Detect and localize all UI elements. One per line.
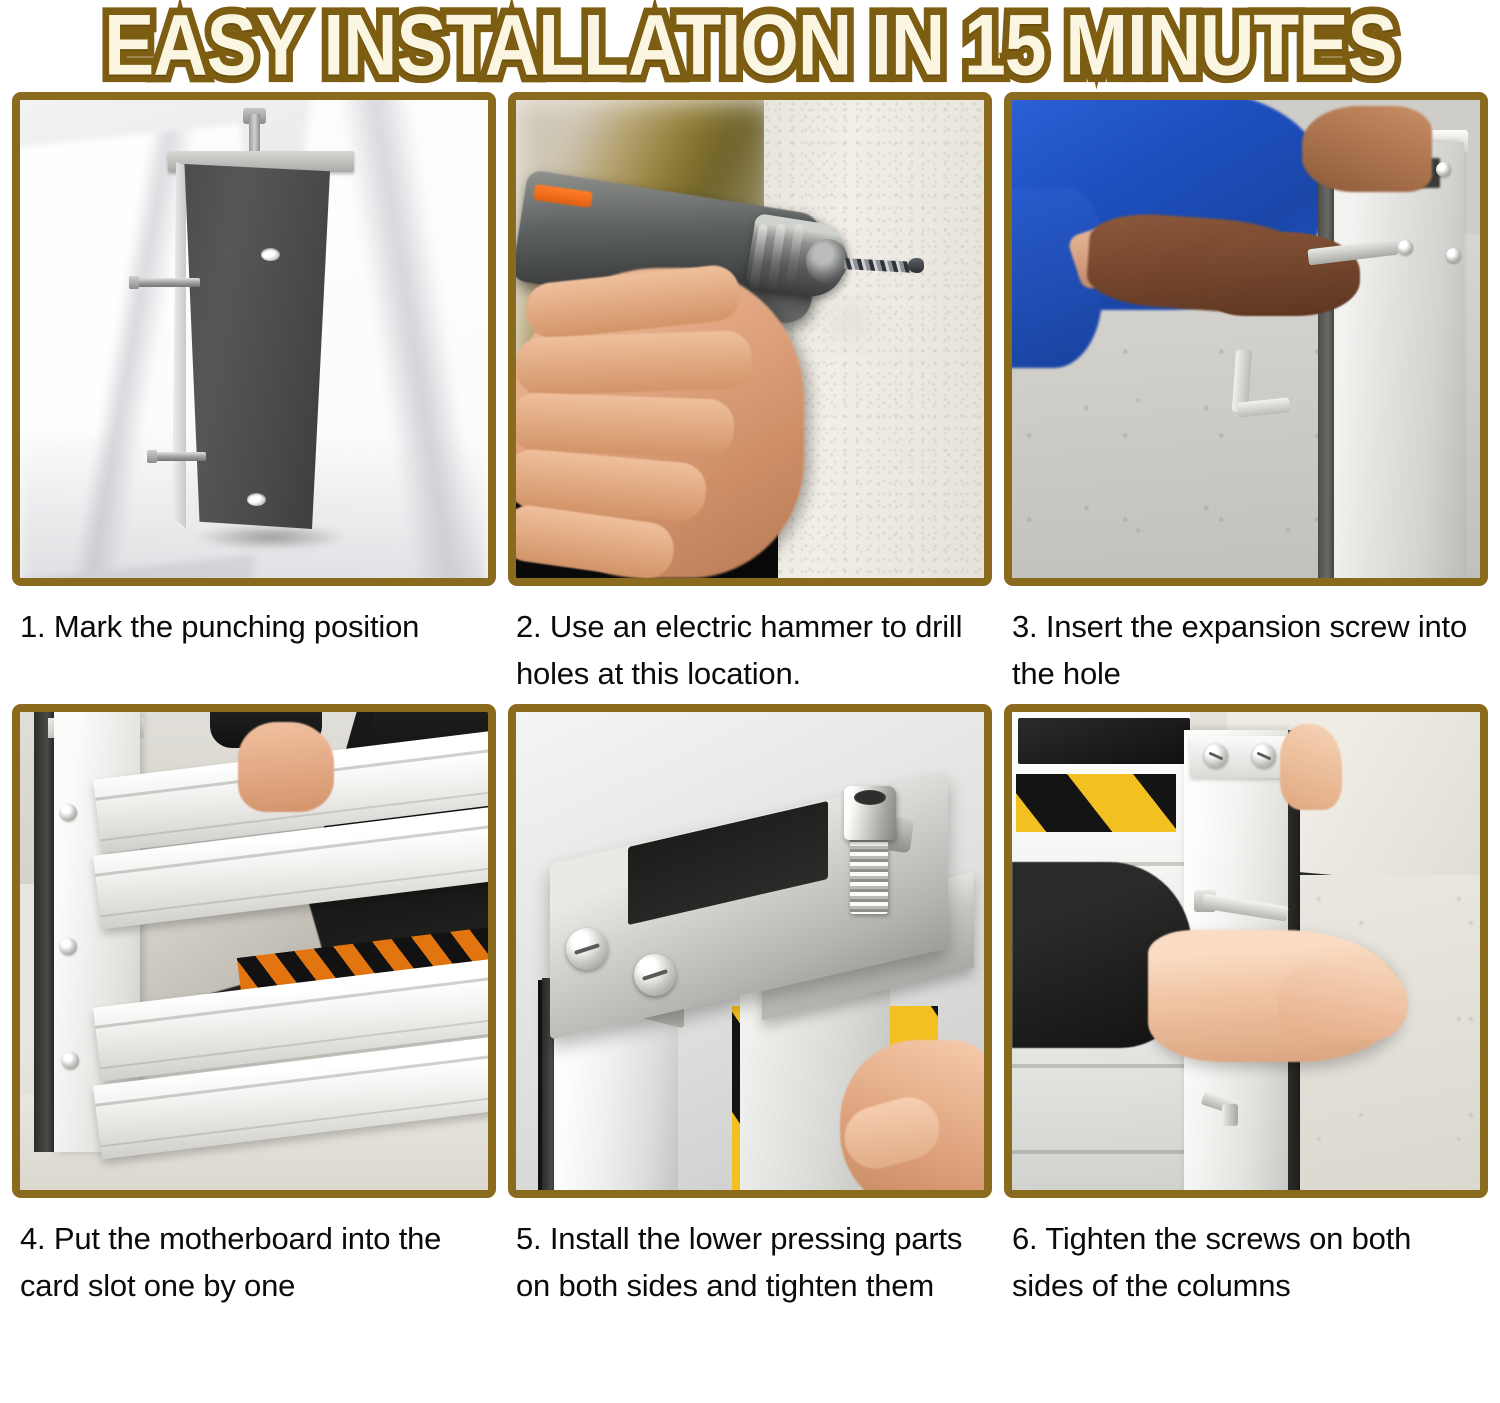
hand (1280, 724, 1342, 810)
hex-bolt-socket (854, 790, 886, 805)
step-card-5: 5. Install the lower pressing parts on b… (508, 704, 992, 1338)
drill-bit-tip (908, 258, 924, 273)
hand (238, 722, 334, 812)
hex-bolt-shaft (850, 832, 888, 914)
column-screw (1204, 744, 1228, 768)
finger (516, 330, 753, 396)
hand (1208, 232, 1360, 316)
step-photo-2 (516, 100, 984, 578)
column-screw (1398, 240, 1413, 255)
page-title: EASY INSTALLATION IN 15 MINUTES (104, 2, 1396, 89)
barrier-post (180, 164, 330, 529)
expansion-stud-cap (147, 450, 157, 463)
step-photo-6 (1012, 712, 1480, 1190)
step-card-3: 3. Insert the expansion screw into the h… (1004, 92, 1488, 704)
step-image-frame-2 (508, 92, 992, 586)
step-image-frame-6 (1004, 704, 1488, 1198)
column-screw (60, 804, 77, 821)
column-shadow-gap (34, 712, 56, 1152)
step-caption-1: 1. Mark the punching position (12, 586, 496, 704)
mounting-hole (247, 493, 266, 506)
step-image-frame-1 (12, 92, 496, 586)
column-screw (1252, 744, 1276, 768)
bracket-screw (566, 928, 608, 970)
finger (516, 392, 735, 458)
allen-key (1222, 1104, 1238, 1126)
step-caption-6: 6. Tighten the screws on both sides of t… (1004, 1198, 1488, 1338)
step-image-frame-4 (12, 704, 496, 1198)
step-card-1: 1. Mark the punching position (12, 92, 496, 704)
column-screw (1446, 248, 1461, 263)
step-card-2: 2. Use an electric hammer to drill holes… (508, 92, 992, 704)
step-caption-3: 3. Insert the expansion screw into the h… (1004, 586, 1488, 704)
step-card-4: 4. Put the motherboard into the card slo… (12, 704, 496, 1338)
step-caption-5: 5. Install the lower pressing parts on b… (508, 1198, 992, 1338)
expansion-stud (132, 278, 200, 287)
board-groove (1012, 1150, 1190, 1154)
mounting-hole (261, 248, 280, 261)
aluminum-column (1334, 142, 1464, 578)
board-groove (1012, 1064, 1190, 1068)
step-photo-4 (20, 712, 488, 1190)
column-screw (60, 938, 77, 955)
hazard-stripe-pattern (1016, 774, 1176, 832)
fingers (1278, 964, 1408, 1040)
step-photo-1 (20, 100, 488, 578)
step-photo-5 (516, 712, 984, 1190)
step-card-6: 6. Tighten the screws on both sides of t… (1004, 704, 1488, 1338)
title-banner: EASY INSTALLATION IN 15 MINUTES (0, 0, 1500, 92)
steps-grid: 1. Mark the punching position (12, 92, 1488, 1338)
post-shadow (196, 524, 346, 550)
expansion-stud (150, 452, 206, 461)
bracket-screw (634, 954, 676, 996)
column-screw (62, 1052, 79, 1069)
step-caption-4: 4. Put the motherboard into the card slo… (12, 1198, 496, 1338)
step-photo-3 (1012, 100, 1480, 578)
hazard-tape (1016, 774, 1176, 832)
hand (1302, 106, 1432, 192)
dark-background (1018, 718, 1190, 764)
step-image-frame-3 (1004, 92, 1488, 586)
column-screw (1436, 162, 1451, 177)
step-caption-2: 2. Use an electric hammer to drill holes… (508, 586, 992, 704)
expansion-stud-cap (129, 276, 139, 289)
step-image-frame-5 (508, 704, 992, 1198)
drill-dust (812, 296, 886, 358)
